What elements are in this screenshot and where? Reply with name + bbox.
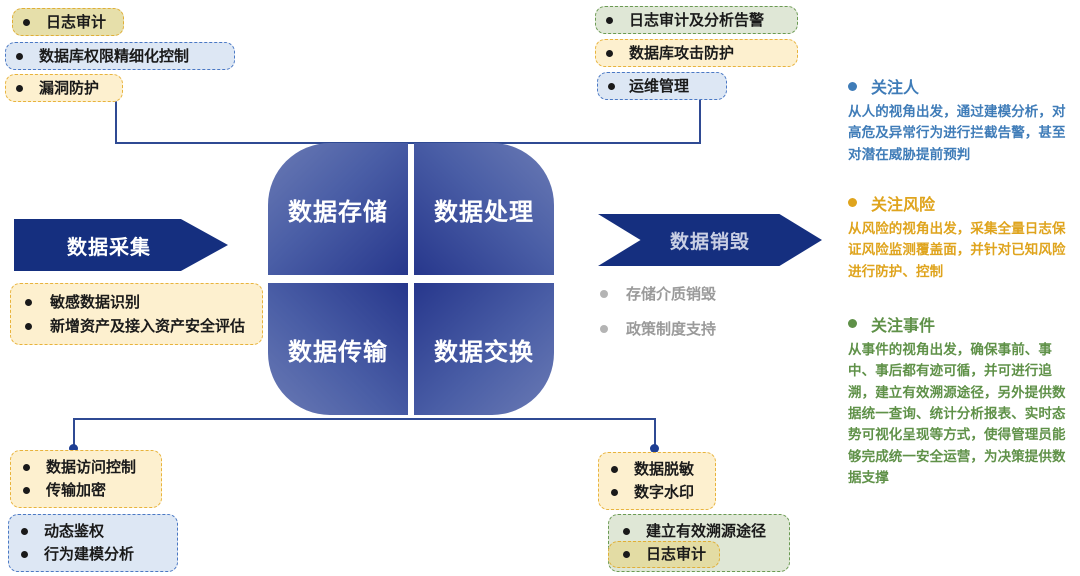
tag-label: 行为建模分析	[44, 547, 134, 562]
arrow-label: 数据销毁	[670, 227, 750, 254]
arrow-data-destruction[interactable]: 数据销毁	[598, 214, 822, 266]
tag-row: 数据访问控制	[23, 460, 149, 475]
focus-column: 关注人 从人的视角出发，通过建模分析，对高危及异常行为进行拦截告警，甚至对潜在威…	[848, 74, 1074, 506]
focus-title: 关注人	[871, 74, 919, 98]
bullet-icon	[611, 466, 618, 473]
tag-row: 日志审计	[23, 15, 113, 30]
bullet-icon	[606, 50, 613, 57]
focus-body: 从事件的视角出发，确保事前、事中、事后都有迹可循，并可进行追溯，建立有效溯源途径…	[848, 339, 1074, 488]
bullet-icon	[611, 489, 618, 496]
petal-data-exchange[interactable]: 数据交换	[414, 283, 554, 415]
diagram-canvas: 日志审计 数据库权限精细化控制 漏洞防护 日志审计及分析告警 数据库攻击防护 运…	[0, 0, 1080, 576]
tag-top-right-1[interactable]: 数据库攻击防护	[595, 39, 798, 67]
tag-label: 数据访问控制	[46, 460, 136, 475]
arrow-data-collection[interactable]: 数据采集	[14, 219, 228, 271]
bullet-icon	[23, 464, 30, 471]
focus-heading: 关注风险	[848, 191, 1074, 215]
tag-label: 日志审计及分析告警	[629, 13, 764, 28]
bullet-icon	[623, 528, 630, 535]
bullet-icon	[600, 325, 608, 333]
list-item: 存储介质销毁	[600, 283, 716, 304]
tag-row: 日志审计	[623, 547, 705, 562]
tag-bottom-right-overlay[interactable]: 日志审计	[608, 541, 720, 568]
tag-top-left-2[interactable]: 漏洞防护	[5, 74, 123, 102]
petal-data-processing[interactable]: 数据处理	[414, 143, 554, 275]
tag-row: 数据库权限精细化控制	[16, 49, 224, 64]
bullet-icon	[606, 17, 613, 24]
destroy-list: 存储介质销毁 政策制度支持	[600, 283, 716, 353]
bullet-icon	[25, 323, 32, 330]
petal-label: 数据存储	[288, 192, 388, 227]
tag-label: 敏感数据识别	[50, 295, 140, 310]
tag-row: 敏感数据识别	[25, 295, 248, 310]
tag-bottom-left-0[interactable]: 数据访问控制 传输加密	[10, 450, 162, 508]
bullet-icon	[608, 83, 615, 90]
bullet-icon	[848, 82, 857, 91]
focus-heading: 关注人	[848, 74, 1074, 98]
tag-row: 传输加密	[23, 483, 149, 498]
bullet-icon	[623, 551, 630, 558]
tag-row: 数据库攻击防护	[606, 46, 787, 61]
tag-label: 数据库权限精细化控制	[39, 49, 189, 64]
tag-top-right-2[interactable]: 运维管理	[597, 72, 727, 100]
focus-title: 关注风险	[871, 191, 935, 215]
tag-top-right-0[interactable]: 日志审计及分析告警	[595, 6, 798, 34]
bullet-icon	[16, 53, 23, 60]
tag-top-left-1[interactable]: 数据库权限精细化控制	[5, 42, 235, 70]
tag-row: 建立有效溯源途径	[623, 524, 775, 539]
focus-body: 从风险的视角出发，采集全量日志保证风险监测覆盖面，并针对已知风险进行防护、控制	[848, 218, 1074, 282]
bullet-icon	[23, 487, 30, 494]
bullet-icon	[21, 528, 28, 535]
focus-heading: 关注事件	[848, 312, 1074, 336]
tag-row: 运维管理	[608, 79, 716, 94]
petal-label: 数据传输	[288, 332, 388, 367]
tag-label: 数据脱敏	[634, 462, 694, 477]
petal-data-transmission[interactable]: 数据传输	[268, 283, 408, 415]
tag-row: 动态鉴权	[21, 524, 165, 539]
arrow-label: 数据采集	[67, 231, 151, 260]
petal-data-storage[interactable]: 数据存储	[268, 143, 408, 275]
connector-bottom-horizontal	[73, 418, 655, 420]
tag-row: 数字水印	[611, 485, 703, 500]
focus-block-people: 关注人 从人的视角出发，通过建模分析，对高危及异常行为进行拦截告警，甚至对潜在威…	[848, 74, 1074, 165]
connector-top-right-vertical	[699, 93, 701, 143]
tag-bottom-left-1[interactable]: 动态鉴权 行为建模分析	[8, 514, 178, 572]
focus-body: 从人的视角出发，通过建模分析，对高危及异常行为进行拦截告警，甚至对潜在威胁提前预…	[848, 101, 1074, 165]
tag-label: 数据库攻击防护	[629, 46, 734, 61]
list-item-label: 政策制度支持	[626, 318, 716, 339]
bullet-icon	[21, 551, 28, 558]
focus-block-risk: 关注风险 从风险的视角出发，采集全量日志保证风险监测覆盖面，并针对已知风险进行防…	[848, 191, 1074, 282]
petal-label: 数据交换	[434, 332, 534, 367]
tag-label: 日志审计	[46, 15, 106, 30]
tag-label: 运维管理	[629, 79, 689, 94]
tag-row: 日志审计及分析告警	[606, 13, 787, 28]
core-flower: 数据存储 数据处理 数据传输 数据交换	[268, 143, 554, 415]
tag-label: 新增资产及接入资产安全评估	[50, 319, 245, 334]
tag-label: 漏洞防护	[39, 81, 99, 96]
bullet-icon	[16, 85, 23, 92]
list-item: 政策制度支持	[600, 318, 716, 339]
tag-row: 新增资产及接入资产安全评估	[25, 319, 248, 334]
focus-title: 关注事件	[871, 312, 935, 336]
tag-label: 数字水印	[634, 485, 694, 500]
tag-label: 传输加密	[46, 483, 106, 498]
tag-bottom-right-0[interactable]: 数据脱敏 数字水印	[598, 452, 716, 510]
tag-label: 建立有效溯源途径	[646, 524, 766, 539]
petal-label: 数据处理	[434, 192, 534, 227]
tag-row: 行为建模分析	[21, 547, 165, 562]
bullet-icon	[848, 198, 857, 207]
tag-label: 动态鉴权	[44, 524, 104, 539]
bullet-icon	[25, 299, 32, 306]
focus-block-event: 关注事件 从事件的视角出发，确保事前、事中、事后都有迹可循，并可进行追溯，建立有…	[848, 312, 1074, 488]
bullet-icon	[848, 319, 857, 328]
tag-top-left-0[interactable]: 日志审计	[12, 8, 124, 36]
tag-row: 数据脱敏	[611, 462, 703, 477]
tag-label: 日志审计	[646, 547, 706, 562]
list-item-label: 存储介质销毁	[626, 283, 716, 304]
bullet-icon	[23, 19, 30, 26]
tag-collect-0[interactable]: 敏感数据识别 新增资产及接入资产安全评估	[10, 283, 263, 345]
bullet-icon	[600, 290, 608, 298]
tag-row: 漏洞防护	[16, 81, 112, 96]
